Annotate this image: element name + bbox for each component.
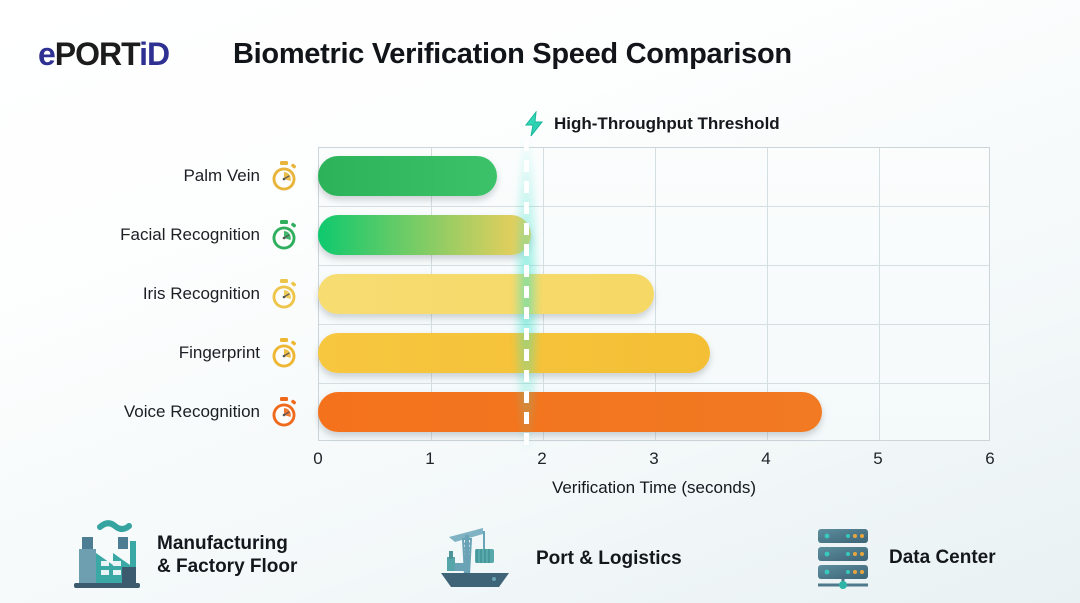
category-label-text: Palm Vein xyxy=(183,166,260,186)
threshold-dashes xyxy=(524,139,529,449)
footer-label-line1: Port & Logistics xyxy=(536,547,682,570)
stopwatch-icon xyxy=(269,396,299,428)
factory-icon xyxy=(70,519,144,591)
footer-label-port-logistics: Port & Logistics xyxy=(536,547,682,570)
brand-logo: ePORTiD xyxy=(38,38,169,70)
chart-canvas: ePORTiD Biometric Verification Speed Com… xyxy=(0,0,1080,603)
footer-label-line2: & Factory Floor xyxy=(157,555,297,578)
footer-label-line1: Manufacturing xyxy=(157,532,297,555)
category-label-iris-recognition: Iris Recognition xyxy=(143,274,318,314)
gridline-x-2 xyxy=(543,148,544,440)
x-tick-3: 3 xyxy=(649,449,658,469)
footer-label-manufacturing: Manufacturing & Factory Floor xyxy=(157,532,297,578)
lightning-bolt-icon xyxy=(523,111,545,137)
category-label-facial-recognition: Facial Recognition xyxy=(120,215,318,255)
gridline-y-2 xyxy=(319,265,989,266)
stopwatch-icon xyxy=(269,278,299,310)
category-labels: Palm VeinFacial RecognitionIris Recognit… xyxy=(0,147,318,441)
gridline-y-1 xyxy=(319,206,989,207)
logo-letter-e: e xyxy=(38,36,55,72)
footer: Manufacturing & Factory Floor Port & xyxy=(0,505,1080,603)
logo-letter-i: i xyxy=(139,36,147,72)
server-rack-icon xyxy=(812,525,876,591)
gridline-x-5 xyxy=(879,148,880,440)
footer-label-line1: Data Center xyxy=(889,546,996,569)
header: ePORTiD Biometric Verification Speed Com… xyxy=(0,0,1080,100)
x-axis-label: Verification Time (seconds) xyxy=(318,478,990,498)
logo-letter-d: D xyxy=(147,36,169,72)
x-tick-0: 0 xyxy=(313,449,322,469)
plot-area xyxy=(318,147,990,441)
footer-item-data-center: Data Center xyxy=(812,525,996,591)
category-label-text: Voice Recognition xyxy=(124,402,260,422)
gridline-x-1 xyxy=(431,148,432,440)
x-tick-5: 5 xyxy=(873,449,882,469)
footer-item-manufacturing: Manufacturing & Factory Floor xyxy=(70,519,297,591)
category-label-text: Iris Recognition xyxy=(143,284,260,304)
gridline-x-4 xyxy=(767,148,768,440)
category-label-fingerprint: Fingerprint xyxy=(179,333,318,373)
category-label-text: Facial Recognition xyxy=(120,225,260,245)
threshold-label: High-Throughput Threshold xyxy=(554,114,780,134)
x-axis-ticks: 0123456 xyxy=(318,449,990,475)
footer-item-port-logistics: Port & Logistics xyxy=(437,525,682,593)
stopwatch-icon xyxy=(269,337,299,369)
category-label-voice-recognition: Voice Recognition xyxy=(124,392,318,432)
stopwatch-icon xyxy=(269,219,299,251)
threshold-line xyxy=(524,139,529,449)
category-label-text: Fingerprint xyxy=(179,343,260,363)
threshold-caption: High-Throughput Threshold xyxy=(523,111,780,137)
gridline-y-4 xyxy=(319,383,989,384)
x-tick-2: 2 xyxy=(537,449,546,469)
logo-word-port: PORT xyxy=(55,36,139,72)
port-crane-ship-icon xyxy=(437,525,523,593)
x-tick-4: 4 xyxy=(761,449,770,469)
x-tick-1: 1 xyxy=(425,449,434,469)
gridline-y-3 xyxy=(319,324,989,325)
category-label-palm-vein: Palm Vein xyxy=(183,156,318,196)
stopwatch-icon xyxy=(269,160,299,192)
gridline-x-3 xyxy=(655,148,656,440)
footer-label-data-center: Data Center xyxy=(889,546,996,569)
x-tick-6: 6 xyxy=(985,449,994,469)
page-title: Biometric Verification Speed Comparison xyxy=(233,38,792,71)
